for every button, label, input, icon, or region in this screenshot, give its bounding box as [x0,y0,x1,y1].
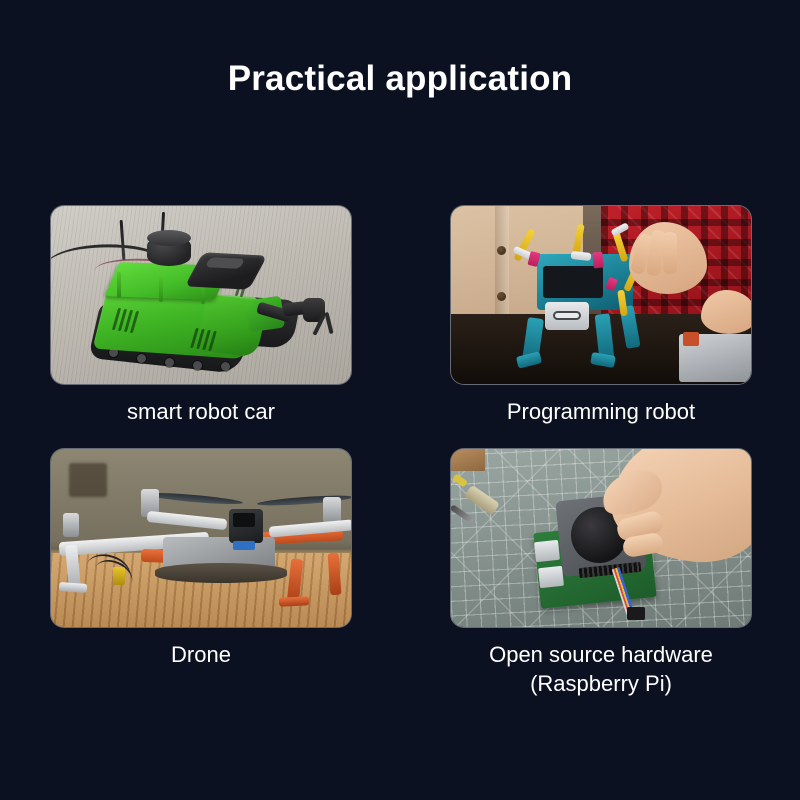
jacket-button [497,246,506,255]
track-wheel [221,362,230,371]
caption-line-1: Open source hardware [489,642,713,667]
photo-programming-robot [451,206,751,384]
card-caption-drone: Drone [50,640,352,669]
application-card-open-source-hardware[interactable]: Open source hardware (Raspberry Pi) [450,448,752,698]
application-card-drone[interactable]: Drone [50,448,352,698]
page-title: Practical application [0,57,800,101]
track-wheel [137,354,146,363]
card-image-frame-smart-robot-car[interactable] [50,205,352,385]
card-caption-programming-robot: Programming robot [450,397,752,426]
pink-block [592,252,604,269]
finger [663,232,677,274]
landing-foot [59,582,88,593]
card-caption-smart-robot-car: smart robot car [50,397,352,426]
blue-component [233,541,255,550]
deck-support-post [117,272,121,298]
motor [323,497,341,523]
caption-line-2: (Raspberry Pi) [530,671,672,696]
wall-object [69,463,107,497]
robot-inner-frame [543,266,603,298]
track-wheel [165,358,174,367]
robot-face-mouth [553,311,581,320]
card-image-frame-programming-robot[interactable] [450,205,752,385]
usb-port [534,540,560,562]
hand [701,290,751,334]
battery-slot [205,257,245,269]
application-card-programming-robot[interactable]: Programming robot [450,205,752,426]
jacket-button [497,292,506,301]
photo-smart-robot-car [51,206,351,384]
xt60-connector [113,567,125,585]
track-wheel [193,361,202,370]
photo-drone [51,449,351,627]
deck-support-post [159,276,163,302]
photo-raspberry-pi [451,449,751,627]
lidar-sensor-top [147,230,191,246]
wooden-desk-edge [451,449,485,471]
motor [63,513,79,537]
landing-foot [279,596,309,607]
application-card-smart-robot-car[interactable]: smart robot car [50,205,352,426]
cable-connector [627,607,645,620]
card-image-frame-open-source-hardware[interactable] [450,448,752,628]
drone-base-plate [155,563,287,583]
usb-port [538,566,564,588]
practical-application-page: Practical application [0,0,800,800]
card-caption-open-source-hardware: Open source hardware (Raspberry Pi) [450,640,752,698]
card-image-frame-drone[interactable] [50,448,352,628]
camera-lens [233,513,255,527]
application-card-grid: smart robot car [50,205,752,698]
module-red-marker [683,332,699,346]
